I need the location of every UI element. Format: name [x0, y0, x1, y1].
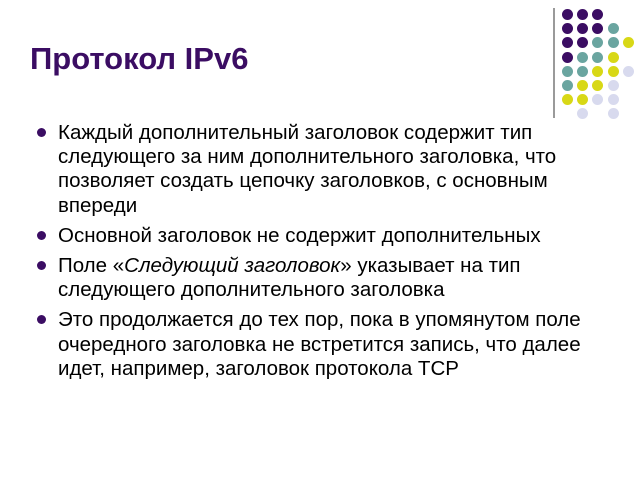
- dot-grid-logo: [540, 0, 640, 125]
- dot-icon: [577, 66, 588, 77]
- list-item-text: Поле «Следующий заголовок» указывает на …: [58, 254, 521, 301]
- dot-icon: [577, 94, 588, 105]
- dot-icon: [562, 9, 573, 20]
- dot-icon: [623, 66, 634, 77]
- dot-icon: [562, 80, 573, 91]
- dot-icon: [577, 9, 588, 20]
- page-title: Протокол IPv6: [30, 42, 510, 76]
- bullet-list: Каждый дополнительный заголовок содержит…: [30, 121, 618, 387]
- bullet-dot-icon: [37, 315, 46, 324]
- dot-icon: [562, 52, 573, 63]
- dot-icon: [592, 37, 603, 48]
- dot-icon: [608, 80, 619, 91]
- dot-icon: [608, 52, 619, 63]
- emphasis-text: Следующий заголовок: [124, 254, 340, 277]
- dot-icon: [608, 23, 619, 34]
- slide-canvas: Протокол IPv6 Каждый дополнительный заго…: [0, 0, 640, 480]
- dot-icon: [592, 9, 603, 20]
- bullet-dot-icon: [37, 128, 46, 137]
- vertical-divider-line: [553, 8, 555, 118]
- dot-icon: [562, 66, 573, 77]
- bullet-dot-icon: [37, 231, 46, 240]
- bullet-dot-icon: [37, 261, 46, 270]
- list-item-text: Это продолжается до тех пор, пока в упом…: [58, 308, 581, 379]
- dot-icon: [577, 37, 588, 48]
- list-item-text: Основной заголовок не содержит дополните…: [58, 224, 541, 247]
- dot-icon: [592, 52, 603, 63]
- dot-icon: [592, 66, 603, 77]
- dot-icon: [592, 23, 603, 34]
- dot-icon: [577, 23, 588, 34]
- list-item: Это продолжается до тех пор, пока в упом…: [30, 308, 618, 381]
- dot-icon: [562, 23, 573, 34]
- dot-icon: [592, 80, 603, 91]
- dot-icon: [608, 37, 619, 48]
- dot-icon: [577, 52, 588, 63]
- list-item: Поле «Следующий заголовок» указывает на …: [30, 254, 618, 302]
- dot-icon: [608, 108, 619, 119]
- dot-icon: [592, 94, 603, 105]
- dot-grid: [562, 9, 640, 119]
- dot-icon: [577, 108, 588, 119]
- dot-icon: [562, 37, 573, 48]
- dot-icon: [608, 94, 619, 105]
- dot-icon: [608, 66, 619, 77]
- list-item-text: Каждый дополнительный заголовок содержит…: [58, 121, 556, 217]
- list-item: Каждый дополнительный заголовок содержит…: [30, 121, 618, 218]
- dot-icon: [577, 80, 588, 91]
- list-item: Основной заголовок не содержит дополните…: [30, 224, 618, 248]
- dot-icon: [623, 37, 634, 48]
- dot-icon: [562, 94, 573, 105]
